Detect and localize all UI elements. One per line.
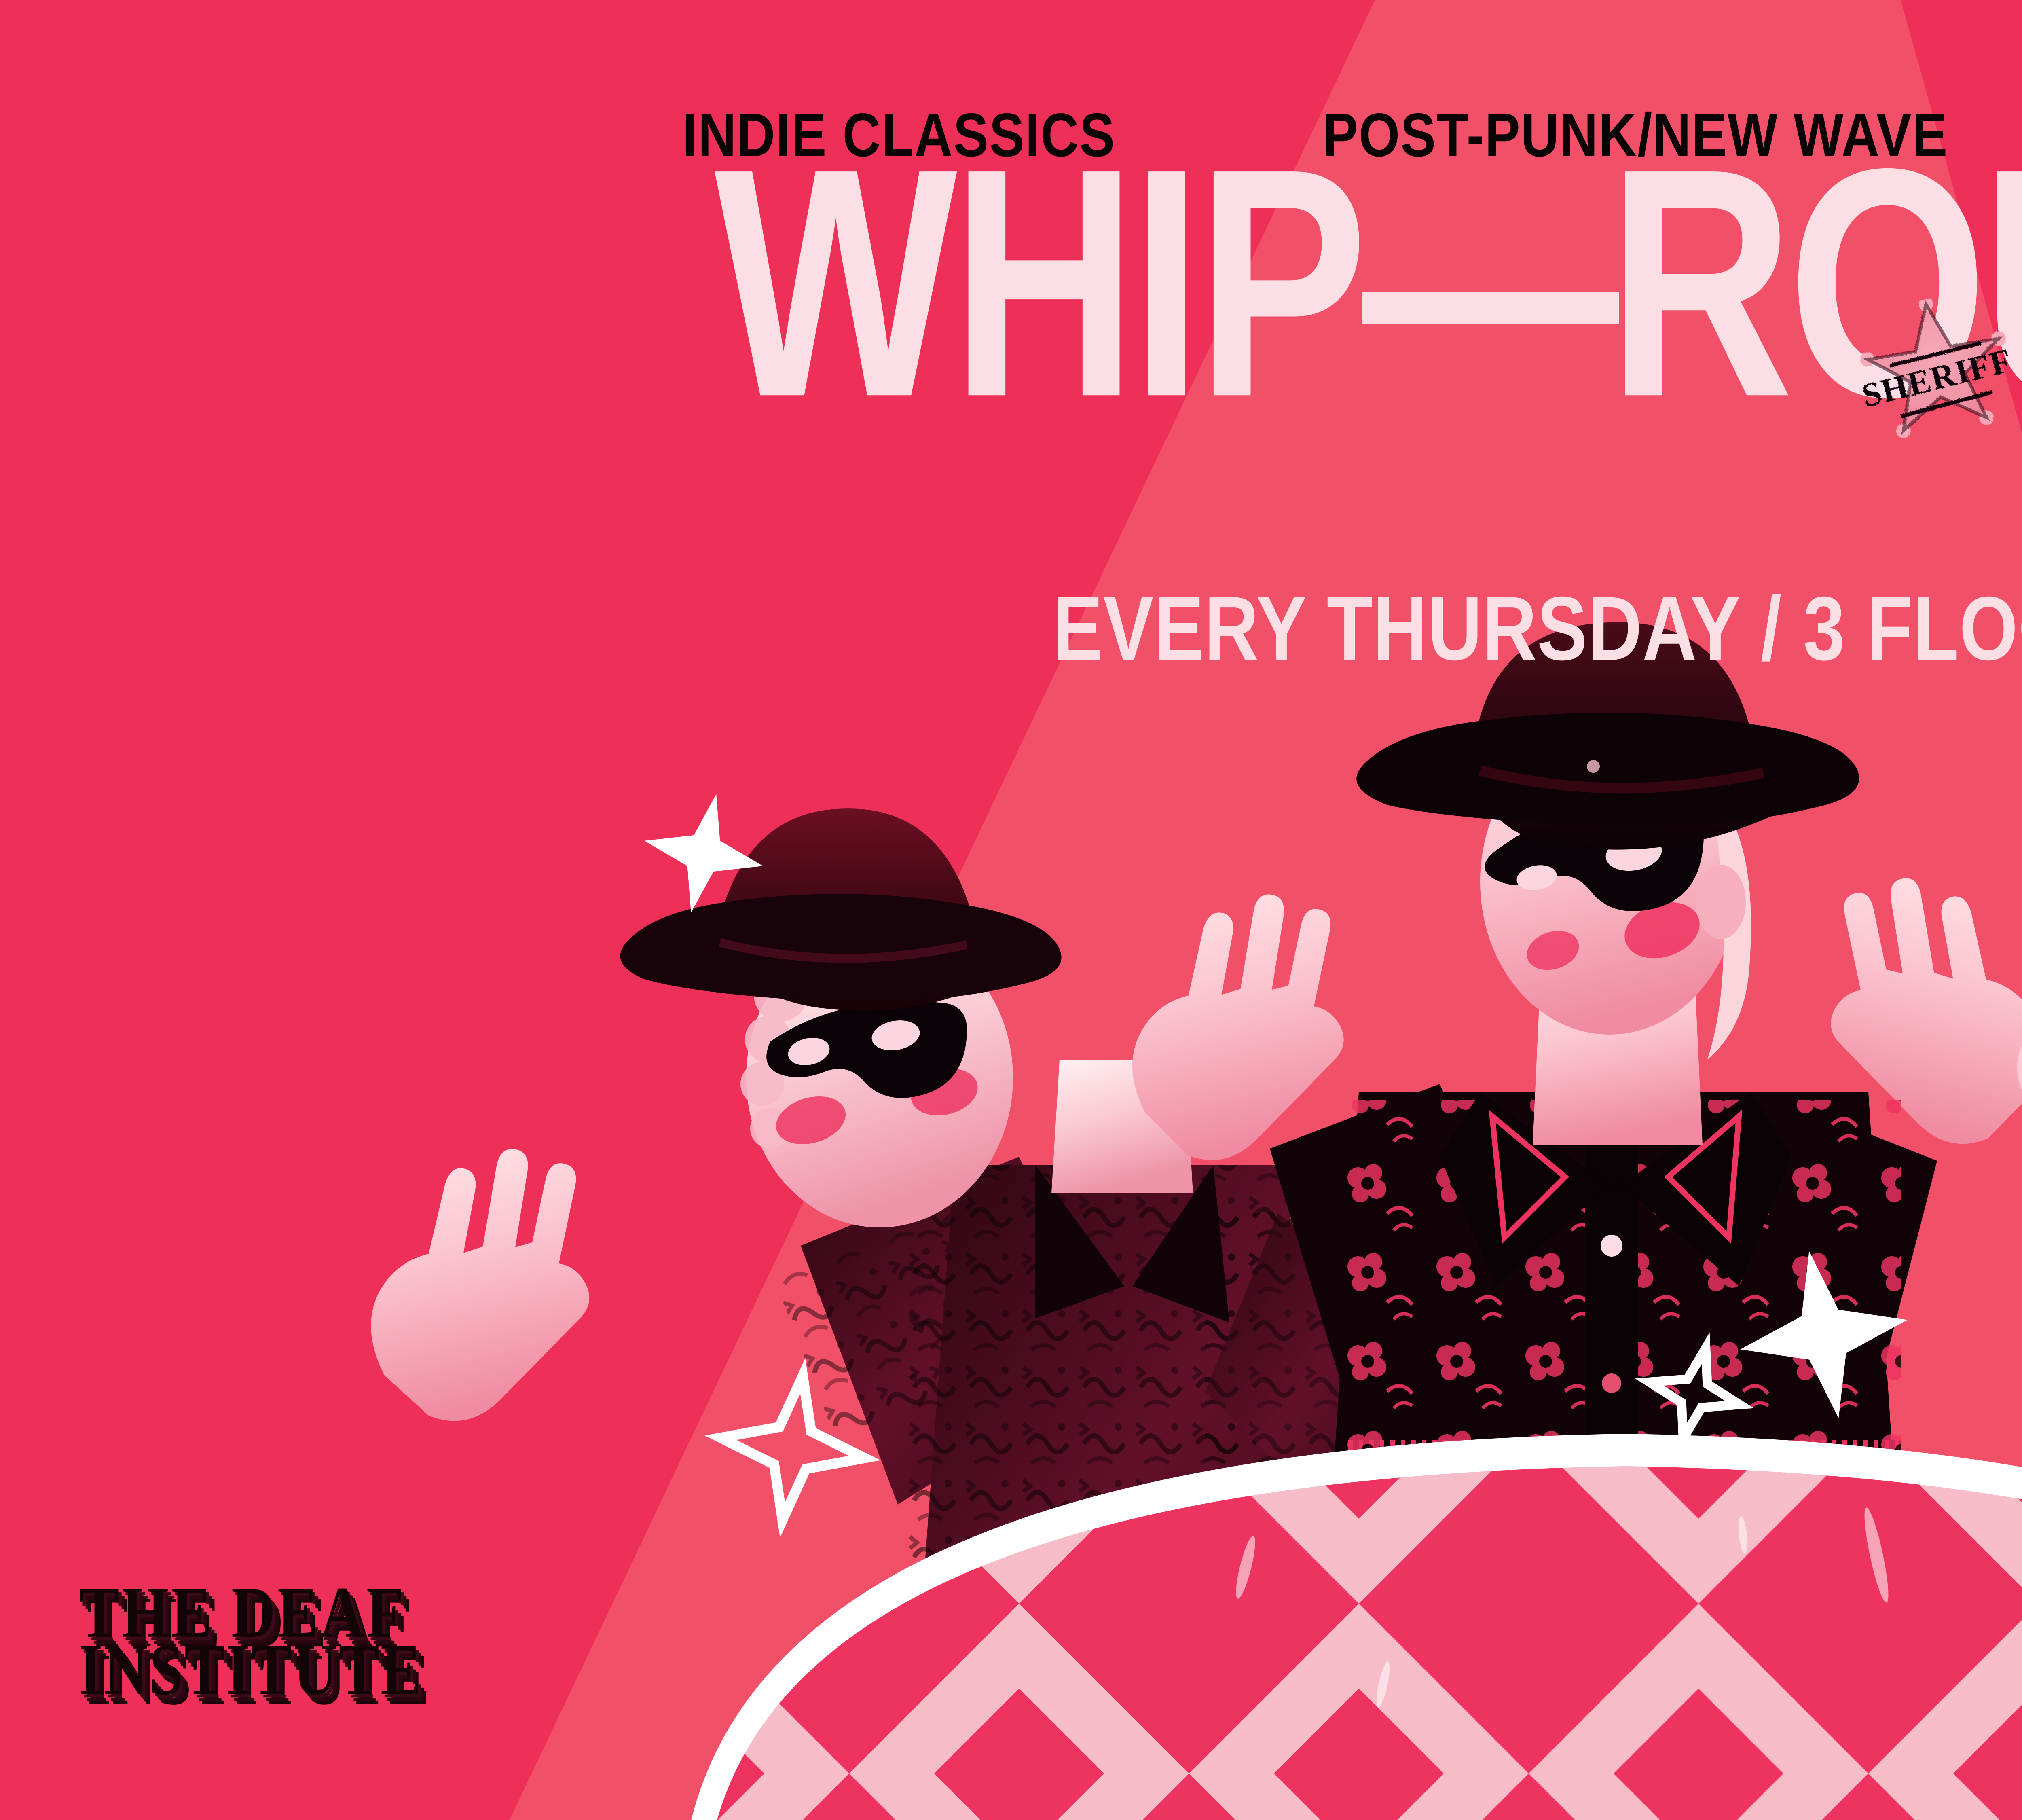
venue-logo-line-2: INSTITUTE <box>79 1635 423 1705</box>
title-part-two: R <box>1608 102 1787 465</box>
venue-logo[interactable]: THE DEAF INSTITUTE <box>79 1584 416 1699</box>
subtitle-text: EVERY THURSDAY / 3 FLOORS <box>1053 584 2022 674</box>
checkered-arch-dancefloor <box>679 1434 2022 1820</box>
subtitle-block: EVERY THURSDAY / 3 FLOORS <box>0 588 2022 669</box>
left-figure-hat-icon <box>620 808 1062 1011</box>
title-dash: — <box>1362 102 1607 465</box>
left-figure-hand-left <box>371 1149 589 1421</box>
title-part-one: WHIP <box>714 102 1362 465</box>
event-poster: INDIE CLASSICS POST-PUNK/NEW WAVE EMO AN… <box>0 0 2022 1820</box>
page-title: WHIP—ROUND <box>714 133 2022 433</box>
sheriff-badge-icon: SHERIFF <box>1841 286 2022 473</box>
centre-figure-hand-left <box>1132 894 1344 1160</box>
title-block: WHIP—ROUND <box>0 133 2022 357</box>
